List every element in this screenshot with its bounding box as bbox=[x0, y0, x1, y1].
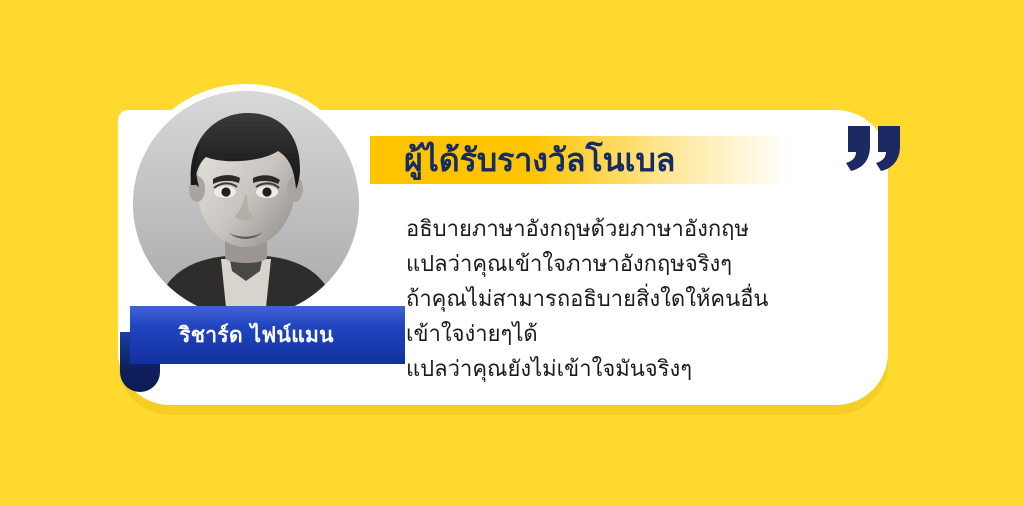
card-title-block: ผู้ได้รับรางวัลโนเบล bbox=[370, 136, 790, 184]
quote-text: อธิบายภาษาอังกฤษด้วยภาษาอังกฤษ แปลว่าคุณ… bbox=[406, 212, 836, 387]
quote-line: ถ้าคุณไม่สามารถอธิบายสิ่งใดให้คนอื่น bbox=[406, 282, 836, 317]
name-ribbon: ริชาร์ด ไฟน์แมน bbox=[120, 306, 405, 364]
ribbon-body: ริชาร์ด ไฟน์แมน bbox=[130, 306, 405, 364]
avatar bbox=[126, 84, 366, 324]
quote-line: แปลว่าคุณยังไม่เข้าใจมันจริงๆ bbox=[406, 352, 836, 387]
quote-line: เข้าใจง่ายๆได้ bbox=[406, 317, 836, 352]
closing-double-quote-icon bbox=[844, 122, 906, 174]
portrait-illustration bbox=[133, 91, 359, 317]
page-title: ผู้ได้รับรางวัลโนเบล bbox=[370, 136, 790, 184]
person-name: ริชาร์ด ไฟน์แมน bbox=[179, 319, 356, 352]
quote-line: แปลว่าคุณเข้าใจภาษาอังกฤษจริงๆ bbox=[406, 247, 836, 282]
portrait-photo bbox=[133, 91, 359, 317]
quote-line: อธิบายภาษาอังกฤษด้วยภาษาอังกฤษ bbox=[406, 212, 836, 247]
quote-card-graphic: ผู้ได้รับรางวัลโนเบล อธิบายภาษาอังกฤษด้ว… bbox=[0, 0, 1024, 506]
